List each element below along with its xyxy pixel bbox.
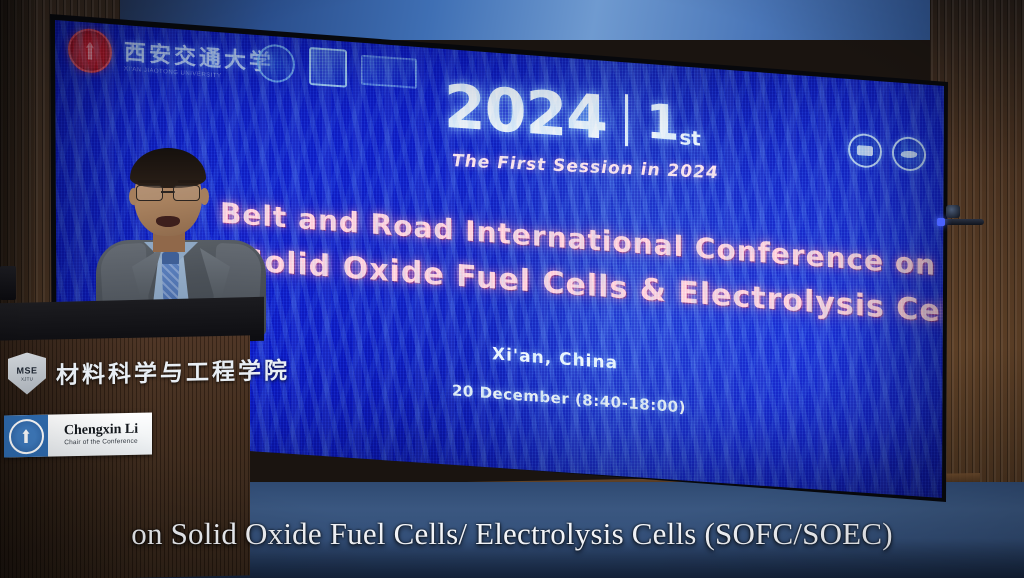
necktie-knot — [162, 252, 179, 266]
eyebrow-right — [178, 180, 200, 183]
glasses-lens-left — [136, 185, 163, 201]
mse-shield-subtext: XJTU — [21, 376, 33, 381]
glasses-icon — [136, 185, 200, 200]
wall-camera-icon — [946, 205, 960, 218]
eyebrow-left — [138, 180, 160, 183]
mse-shield-icon: MSE XJTU — [8, 352, 46, 395]
mouth — [156, 216, 180, 227]
school-branding: MSE XJTU 材料科学与工程学院 — [8, 347, 290, 395]
mse-shield-text: MSE — [16, 366, 37, 375]
glasses-lens-right — [173, 185, 200, 201]
badge-logo-box — [4, 415, 48, 458]
ear-right — [200, 188, 209, 205]
badge-text-group: Chengxin Li Chair of the Conference — [48, 412, 152, 456]
school-name-cn: 材料科学与工程学院 — [56, 351, 290, 390]
wall-speaker-icon — [0, 266, 16, 300]
wall-camera-led — [937, 218, 945, 226]
university-seal-icon — [9, 418, 44, 454]
conference-stage-screenshot: 西安交通大学 XI'AN JIAOTONG UNIVERSITY 2024 1s… — [0, 0, 1024, 578]
speaker-name: Chengxin Li — [64, 422, 138, 438]
video-caption: on Solid Oxide Fuel Cells/ Electrolysis … — [0, 516, 1024, 552]
speaker-role: Chair of the Conference — [64, 438, 138, 447]
speaker-name-badge: Chengxin Li Chair of the Conference — [4, 412, 152, 457]
